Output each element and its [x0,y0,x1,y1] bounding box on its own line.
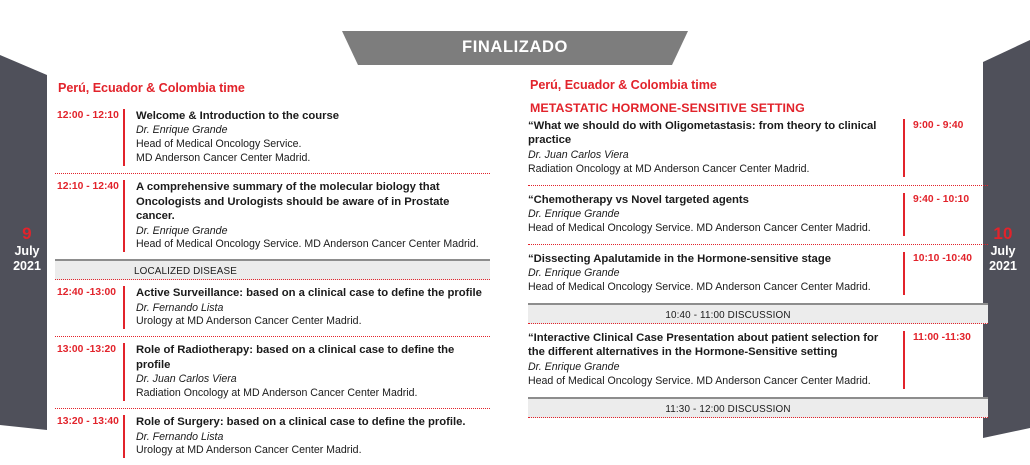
agenda-row-body: “Interactive Clinical Case Presentation … [528,331,905,389]
agenda-row-body: Welcome & Introduction to the courseDr. … [123,109,490,166]
agenda-row-time: 13:00 -13:20 [57,344,116,355]
agenda-row-affiliation: Urology at MD Anderson Cancer Center Mad… [136,315,490,329]
agenda-row-time: 12:10 - 12:40 [57,181,119,192]
agenda-row-body: “Chemotherapy vs Novel targeted agentsDr… [528,193,905,236]
agenda-row-title: “Chemotherapy vs Novel targeted agents [528,193,893,207]
agenda-row-speaker: Dr. Juan Carlos Viera [136,373,490,387]
agenda-row: 13:20 - 13:40Role of Surgery: based on a… [55,408,490,465]
agenda-row-time: 10:10 -10:40 [913,253,972,264]
agenda-row-affiliation: Radiation Oncology at MD Anderson Cancer… [528,163,893,177]
agenda-row: 12:10 - 12:40A comprehensive summary of … [55,173,490,259]
day-month: July [2,244,52,259]
timezone-title: Perú, Ecuador & Colombia time [58,81,245,95]
agenda-band: LOCALIZED DISEASE [55,259,490,280]
agenda-row-affiliation: Head of Medical Oncology Service. MD And… [528,222,893,236]
agenda-row-affiliation: Urology at MD Anderson Cancer Center Mad… [136,444,490,458]
agenda-band-label: 11:30 - 12:00 DISCUSSION [528,404,988,415]
agenda-row-time: 12:40 -13:00 [57,287,116,298]
agenda-row-title: Role of Radiotherapy: based on a clinica… [136,343,490,372]
agenda-row-title: A comprehensive summary of the molecular… [136,180,490,223]
day-year: 2021 [2,259,52,274]
agenda-row-time: 13:20 - 13:40 [57,416,119,427]
agenda-row: 12:40 -13:00Active Surveillance: based o… [55,280,490,336]
agenda-row-affiliation: Head of Medical Oncology Service. [136,138,490,152]
agenda-row-speaker: Dr. Juan Carlos Viera [528,149,893,163]
agenda-row-title: “Interactive Clinical Case Presentation … [528,331,893,360]
agenda-row-affiliation: Radiation Oncology at MD Anderson Cancer… [136,387,490,401]
agenda-band-label: 10:40 - 11:00 DISCUSSION [528,310,988,321]
agenda-row-title: Welcome & Introduction to the course [136,109,490,123]
agenda-row-speaker: Dr. Enrique Grande [136,124,490,138]
day-number: 9 [2,224,52,244]
agenda-row-title: “What we should do with Oligometastasis:… [528,119,893,148]
agenda-row: 13:00 -13:20Role of Radiotherapy: based … [55,336,490,408]
agenda-row: 11:00 -11:30“Interactive Clinical Case P… [528,324,988,397]
agenda-row-speaker: Dr. Enrique Grande [136,225,490,239]
agenda-row-time: 9:40 - 10:10 [913,194,969,205]
agenda-row-title: Active Surveillance: based on a clinical… [136,286,490,300]
agenda-row-title: Role of Surgery: based on a clinical cas… [136,415,490,429]
status-badge: FINALIZADO [342,31,688,65]
agenda-row: 12:00 - 12:10Welcome & Introduction to t… [55,103,490,173]
status-ribbon: FINALIZADO [342,31,688,65]
agenda-row: 10:10 -10:40“Dissecting Apalutamide in t… [528,244,988,303]
agenda-band: 11:30 - 12:00 DISCUSSION [528,397,988,418]
agenda-row-body: A comprehensive summary of the molecular… [123,180,490,252]
agenda-row-time: 9:00 - 9:40 [913,120,963,131]
agenda-row-body: Role of Radiotherapy: based on a clinica… [123,343,490,401]
agenda-row: 9:40 - 10:10“Chemotherapy vs Novel targe… [528,185,988,244]
agenda-row-body: “Dissecting Apalutamide in the Hormone-s… [528,252,905,295]
agenda-row-body: Role of Surgery: based on a clinical cas… [123,415,490,458]
agenda-row-body: “What we should do with Oligometastasis:… [528,119,905,177]
agenda-rows-left: 12:00 - 12:10Welcome & Introduction to t… [55,103,490,465]
agenda-row-affiliation: MD Anderson Cancer Center Madrid. [136,152,490,166]
agenda-row-affiliation: Head of Medical Oncology Service. MD And… [528,281,893,295]
agenda-row-speaker: Dr. Enrique Grande [528,267,893,281]
agenda-rows-right: 9:00 - 9:40“What we should do with Oligo… [528,112,988,418]
agenda-row: 9:00 - 9:40“What we should do with Oligo… [528,112,988,185]
agenda-row-body: Active Surveillance: based on a clinical… [123,286,490,329]
agenda-band: 10:40 - 11:00 DISCUSSION [528,303,988,324]
agenda-row-affiliation: Head of Medical Oncology Service. MD And… [528,375,893,389]
agenda-row-speaker: Dr. Enrique Grande [528,208,893,222]
agenda-row-time: 12:00 - 12:10 [57,110,119,121]
agenda-band-label: LOCALIZED DISEASE [134,266,237,277]
timezone-title: Perú, Ecuador & Colombia time [530,78,717,92]
day-tab-left-label: 9 July 2021 [2,224,52,274]
agenda-row-speaker: Dr. Fernando Lista [136,302,490,316]
agenda-row-title: “Dissecting Apalutamide in the Hormone-s… [528,252,893,266]
agenda-row-speaker: Dr. Enrique Grande [528,361,893,375]
agenda-row-time: 11:00 -11:30 [913,332,971,343]
agenda-row-affiliation: Head of Medical Oncology Service. MD And… [136,238,490,252]
agenda-page: 9 July 2021 10 July 2021 FINALIZADO Perú… [0,0,1030,450]
agenda-row-speaker: Dr. Fernando Lista [136,431,490,445]
